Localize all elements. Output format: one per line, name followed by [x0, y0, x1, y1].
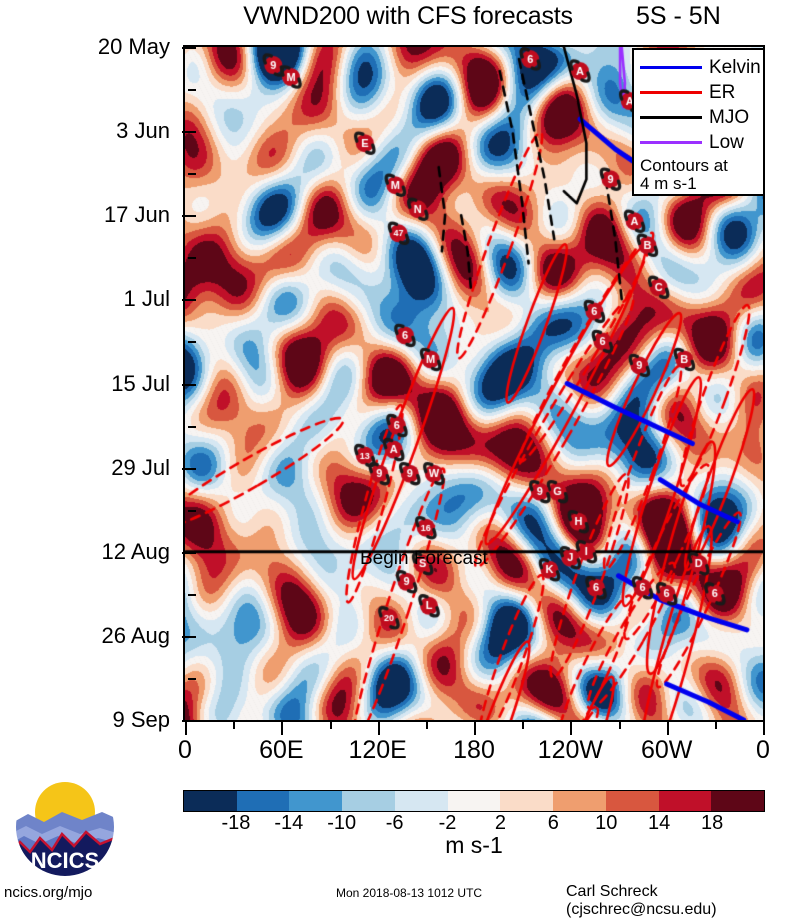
colorbar-cell-6: [500, 791, 553, 811]
x-tick-major: [185, 722, 187, 735]
legend-label-kelvin: Kelvin: [709, 58, 761, 77]
legend-contour-note: Contours at 4 m s-1: [640, 157, 757, 193]
y-tick-major: [182, 552, 196, 554]
y-tick-minor: [188, 678, 196, 680]
x-tick-label-0: 0: [178, 736, 192, 765]
legend-item-kelvin: Kelvin: [640, 55, 757, 80]
x-tick-minor: [233, 722, 235, 729]
x-axis: 060E120E180120W60W0: [183, 722, 765, 762]
colorbar-tick--18: -18: [221, 812, 250, 835]
colorbar-tick--6: -6: [386, 812, 404, 835]
y-tick-minor: [188, 341, 196, 343]
y-tick-major: [182, 131, 196, 133]
colorbar: [183, 790, 765, 812]
colorbar-cell-2: [289, 791, 342, 811]
footer-site-link[interactable]: ncics.org/mjo: [4, 884, 92, 901]
ncics-logo: NCICS: [10, 772, 120, 882]
x-tick-minor: [619, 722, 621, 729]
y-tick-major: [182, 215, 196, 217]
legend-label-er: ER: [709, 83, 735, 102]
colorbar-tick-2: 2: [495, 812, 506, 835]
y-tick-major: [182, 47, 196, 49]
y-tick-label-3-jun: 3 Jun: [20, 118, 170, 144]
x-tick-minor: [715, 722, 717, 729]
x-tick-minor: [522, 722, 524, 729]
y-tick-minor: [188, 173, 196, 175]
x-tick-minor: [426, 722, 428, 729]
footer-author: Carl Schreck (cjschrec@ncsu.edu): [566, 883, 809, 919]
x-tick-label-60w: 60W: [641, 736, 692, 765]
y-tick-label-1-jul: 1 Jul: [20, 286, 170, 312]
y-tick-major: [182, 299, 196, 301]
legend-label-mjo: MJO: [709, 108, 749, 127]
y-tick-label-15-jul: 15 Jul: [20, 371, 170, 397]
x-tick-major: [281, 722, 283, 735]
y-tick-minor: [188, 594, 196, 596]
legend-item-low: Low: [640, 130, 757, 155]
y-tick-major: [182, 468, 196, 470]
y-tick-label-20-may: 20 May: [20, 34, 170, 60]
x-tick-label-120e: 120E: [348, 736, 406, 765]
colorbar-tick-14: 14: [648, 812, 670, 835]
y-tick-label-29-jul: 29 Jul: [20, 455, 170, 481]
colorbar-tick-6: 6: [548, 812, 559, 835]
begin-forecast-label: Begin Forecast: [360, 548, 488, 570]
y-tick-label-17-jun: 17 Jun: [20, 202, 170, 228]
colorbar-units: m s-1: [183, 832, 765, 859]
page-title: VWND200 with CFS forecasts: [183, 2, 633, 31]
colorbar-cell-4: [395, 791, 448, 811]
footer-timestamp: Mon 2018-08-13 1012 UTC: [336, 886, 482, 900]
colorbar-cell-0: [184, 791, 237, 811]
wave-legend: Kelvin ER MJO Low Contours at 4 m s-1: [632, 48, 765, 196]
y-axis: 20 May3 Jun17 Jun1 Jul15 Jul29 Jul12 Aug…: [12, 45, 170, 722]
x-tick-label-60e: 60E: [259, 736, 303, 765]
y-tick-major: [182, 384, 196, 386]
y-tick-minor: [188, 426, 196, 428]
legend-item-mjo: MJO: [640, 105, 757, 130]
y-tick-major: [182, 636, 196, 638]
x-tick-label-180: 180: [453, 736, 495, 765]
x-tick-major: [474, 722, 476, 735]
colorbar-cell-7: [553, 791, 606, 811]
x-tick-major: [763, 722, 765, 735]
colorbar-cell-10: [711, 791, 764, 811]
x-tick-minor: [330, 722, 332, 729]
colorbar-cell-5: [448, 791, 501, 811]
colorbar-cell-9: [659, 791, 712, 811]
mjo-line-swatch: [640, 116, 702, 119]
y-tick-label-26-aug: 26 Aug: [20, 623, 170, 649]
colorbar-cell-8: [606, 791, 659, 811]
low-line-swatch: [640, 141, 702, 144]
logo-text: NCICS: [31, 848, 99, 873]
x-tick-label-120w: 120W: [538, 736, 603, 765]
x-tick-major: [570, 722, 572, 735]
kelvin-line-swatch: [640, 66, 702, 69]
colorbar-tick-18: 18: [701, 812, 723, 835]
legend-note-line1: Contours at: [640, 157, 757, 175]
legend-note-line2: 4 m s-1: [640, 175, 757, 193]
legend-label-low: Low: [709, 133, 744, 152]
y-tick-minor: [188, 510, 196, 512]
colorbar-tick--14: -14: [274, 812, 303, 835]
x-tick-label-0: 0: [756, 736, 770, 765]
y-tick-minor: [188, 89, 196, 91]
x-tick-major: [667, 722, 669, 735]
legend-item-er: ER: [640, 80, 757, 105]
colorbar-cell-3: [342, 791, 395, 811]
latitude-band-label: 5S - 5N: [636, 2, 786, 31]
y-tick-label-12-aug: 12 Aug: [20, 539, 170, 565]
colorbar-tick-10: 10: [595, 812, 617, 835]
colorbar-tick--10: -10: [327, 812, 356, 835]
colorbar-cell-1: [237, 791, 290, 811]
er-line-swatch: [640, 91, 702, 94]
colorbar-tick--2: -2: [439, 812, 457, 835]
x-tick-major: [378, 722, 380, 735]
y-tick-label-9-sep: 9 Sep: [20, 707, 170, 733]
y-tick-minor: [188, 257, 196, 259]
